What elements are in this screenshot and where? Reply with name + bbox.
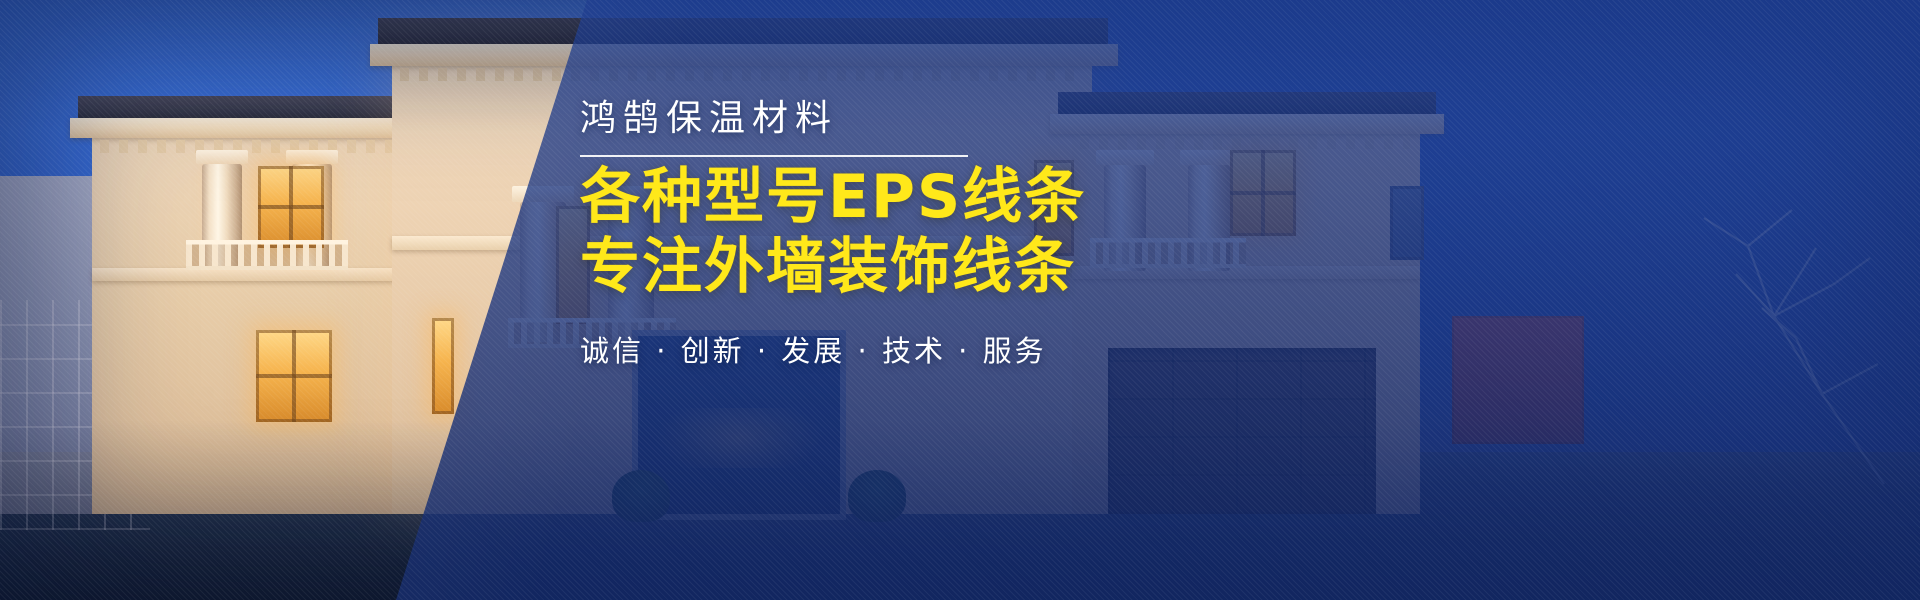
banner-copy: 鸿鹄保温材料 各种型号EPS线条 专注外墙装饰线条 诚信 · 创新 · 发展 ·… bbox=[580, 96, 1320, 370]
headline-line-1: 各种型号EPS线条 bbox=[580, 163, 1320, 233]
hero-banner: 鸿鹄保温材料 各种型号EPS线条 专注外墙装饰线条 诚信 · 创新 · 发展 ·… bbox=[0, 0, 1920, 600]
divider-rule bbox=[580, 155, 968, 157]
headline-line-2: 专注外墙装饰线条 bbox=[580, 233, 1320, 303]
brand-name: 鸿鹄保温材料 bbox=[580, 96, 1320, 141]
tagline: 诚信 · 创新 · 发展 · 技术 · 服务 bbox=[580, 328, 1320, 370]
